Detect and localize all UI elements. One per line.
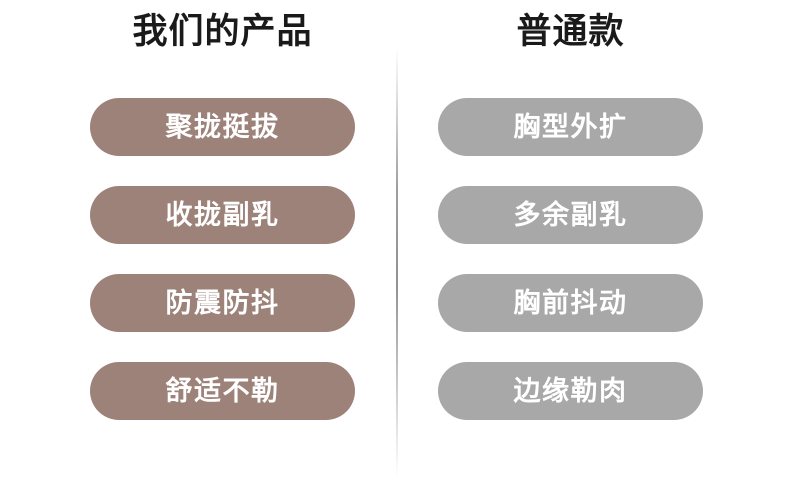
feature-pill-label: 胸前抖动 bbox=[514, 290, 628, 317]
feature-pill-label: 边缘勒肉 bbox=[514, 378, 628, 405]
feature-list-ordinary: 胸型外扩 多余副乳 胸前抖动 边缘勒肉 bbox=[438, 98, 703, 420]
feature-pill: 防震防抖 bbox=[90, 274, 355, 332]
feature-pill: 边缘勒肉 bbox=[438, 362, 703, 420]
feature-pill: 收拢副乳 bbox=[90, 186, 355, 244]
feature-list-ours: 聚拢挺拔 收拢副乳 防震防抖 舒适不勒 bbox=[90, 98, 355, 420]
column-title-ordinary: 普通款 bbox=[438, 0, 703, 56]
feature-pill-label: 多余副乳 bbox=[514, 202, 628, 229]
feature-pill: 胸型外扩 bbox=[438, 98, 703, 156]
column-divider bbox=[396, 46, 398, 478]
column-title-ours: 我们的产品 bbox=[90, 0, 355, 56]
feature-pill-label: 舒适不勒 bbox=[166, 378, 280, 405]
feature-pill: 聚拢挺拔 bbox=[90, 98, 355, 156]
comparison-graphic: 我们的产品 聚拢挺拔 收拢副乳 防震防抖 舒适不勒 普通款 胸型外扩 多余副乳 bbox=[0, 0, 790, 502]
feature-pill-label: 胸型外扩 bbox=[514, 114, 628, 141]
column-ordinary: 普通款 胸型外扩 多余副乳 胸前抖动 边缘勒肉 bbox=[438, 0, 703, 420]
feature-pill: 胸前抖动 bbox=[438, 274, 703, 332]
feature-pill: 舒适不勒 bbox=[90, 362, 355, 420]
column-ours: 我们的产品 聚拢挺拔 收拢副乳 防震防抖 舒适不勒 bbox=[90, 0, 355, 420]
feature-pill-label: 收拢副乳 bbox=[166, 202, 280, 229]
feature-pill: 多余副乳 bbox=[438, 186, 703, 244]
feature-pill-label: 聚拢挺拔 bbox=[166, 114, 280, 141]
feature-pill-label: 防震防抖 bbox=[166, 290, 280, 317]
